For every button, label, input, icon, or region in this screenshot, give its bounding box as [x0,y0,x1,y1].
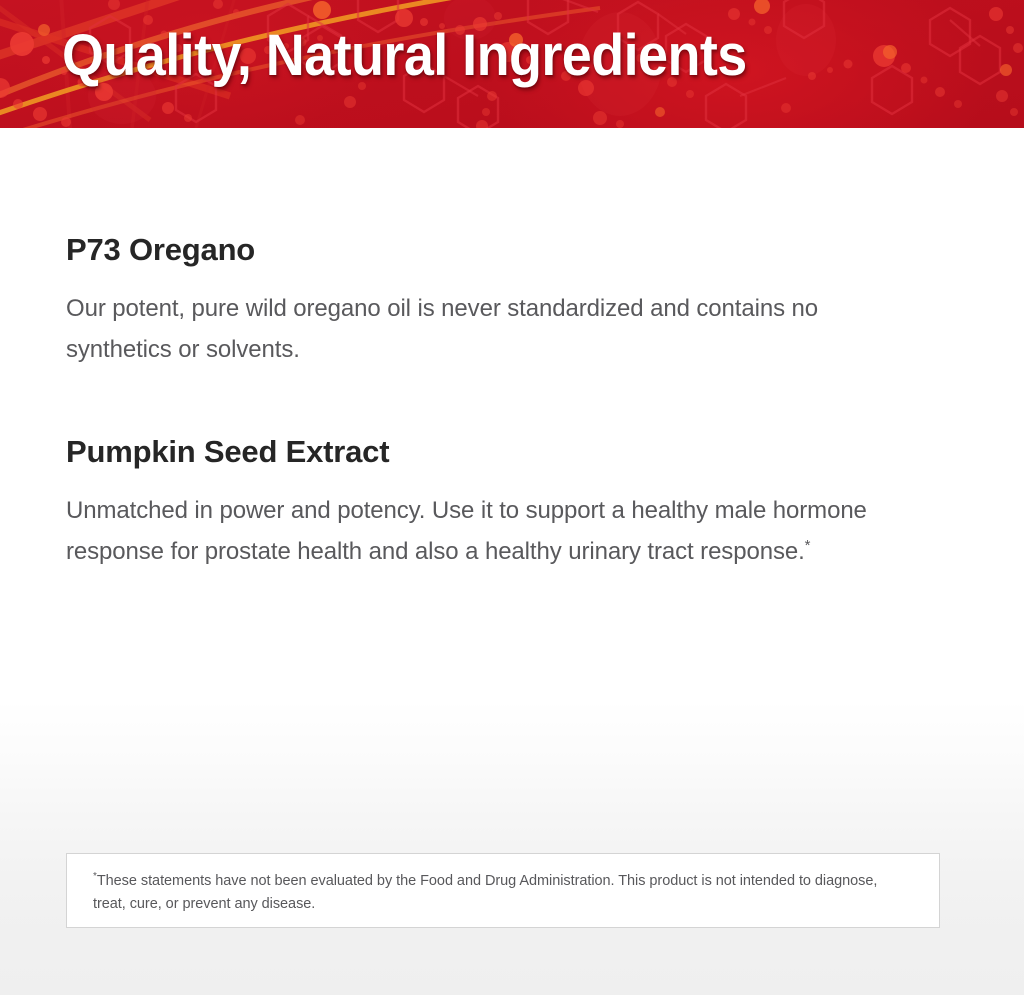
footnote-marker: * [805,537,811,554]
ingredient-description: Our potent, pure wild oregano oil is nev… [66,288,906,371]
ingredient-section-pumpkin-seed-extract: Pumpkin Seed Extract Unmatched in power … [0,434,1024,572]
page-title: Quality, Natural Ingredients [62,27,747,85]
main-content: P73 Oregano Our potent, pure wild oregan… [0,128,1024,572]
banner-header: Quality, Natural Ingredients [0,0,1024,128]
ingredient-heading: P73 Oregano [66,232,958,268]
fda-disclaimer-box: *These statements have not been evaluate… [66,853,940,928]
disclaimer-body: These statements have not been evaluated… [93,873,877,912]
ingredients-panel: Quality, Natural Ingredients P73 Oregano… [0,0,1024,995]
ingredient-description: Unmatched in power and potency. Use it t… [66,490,906,573]
ingredient-heading: Pumpkin Seed Extract [66,434,958,470]
ingredient-description-text: Unmatched in power and potency. Use it t… [66,497,867,565]
fda-disclaimer-text: *These statements have not been evaluate… [93,870,913,917]
ingredient-section-p73-oregano: P73 Oregano Our potent, pure wild oregan… [0,232,1024,370]
